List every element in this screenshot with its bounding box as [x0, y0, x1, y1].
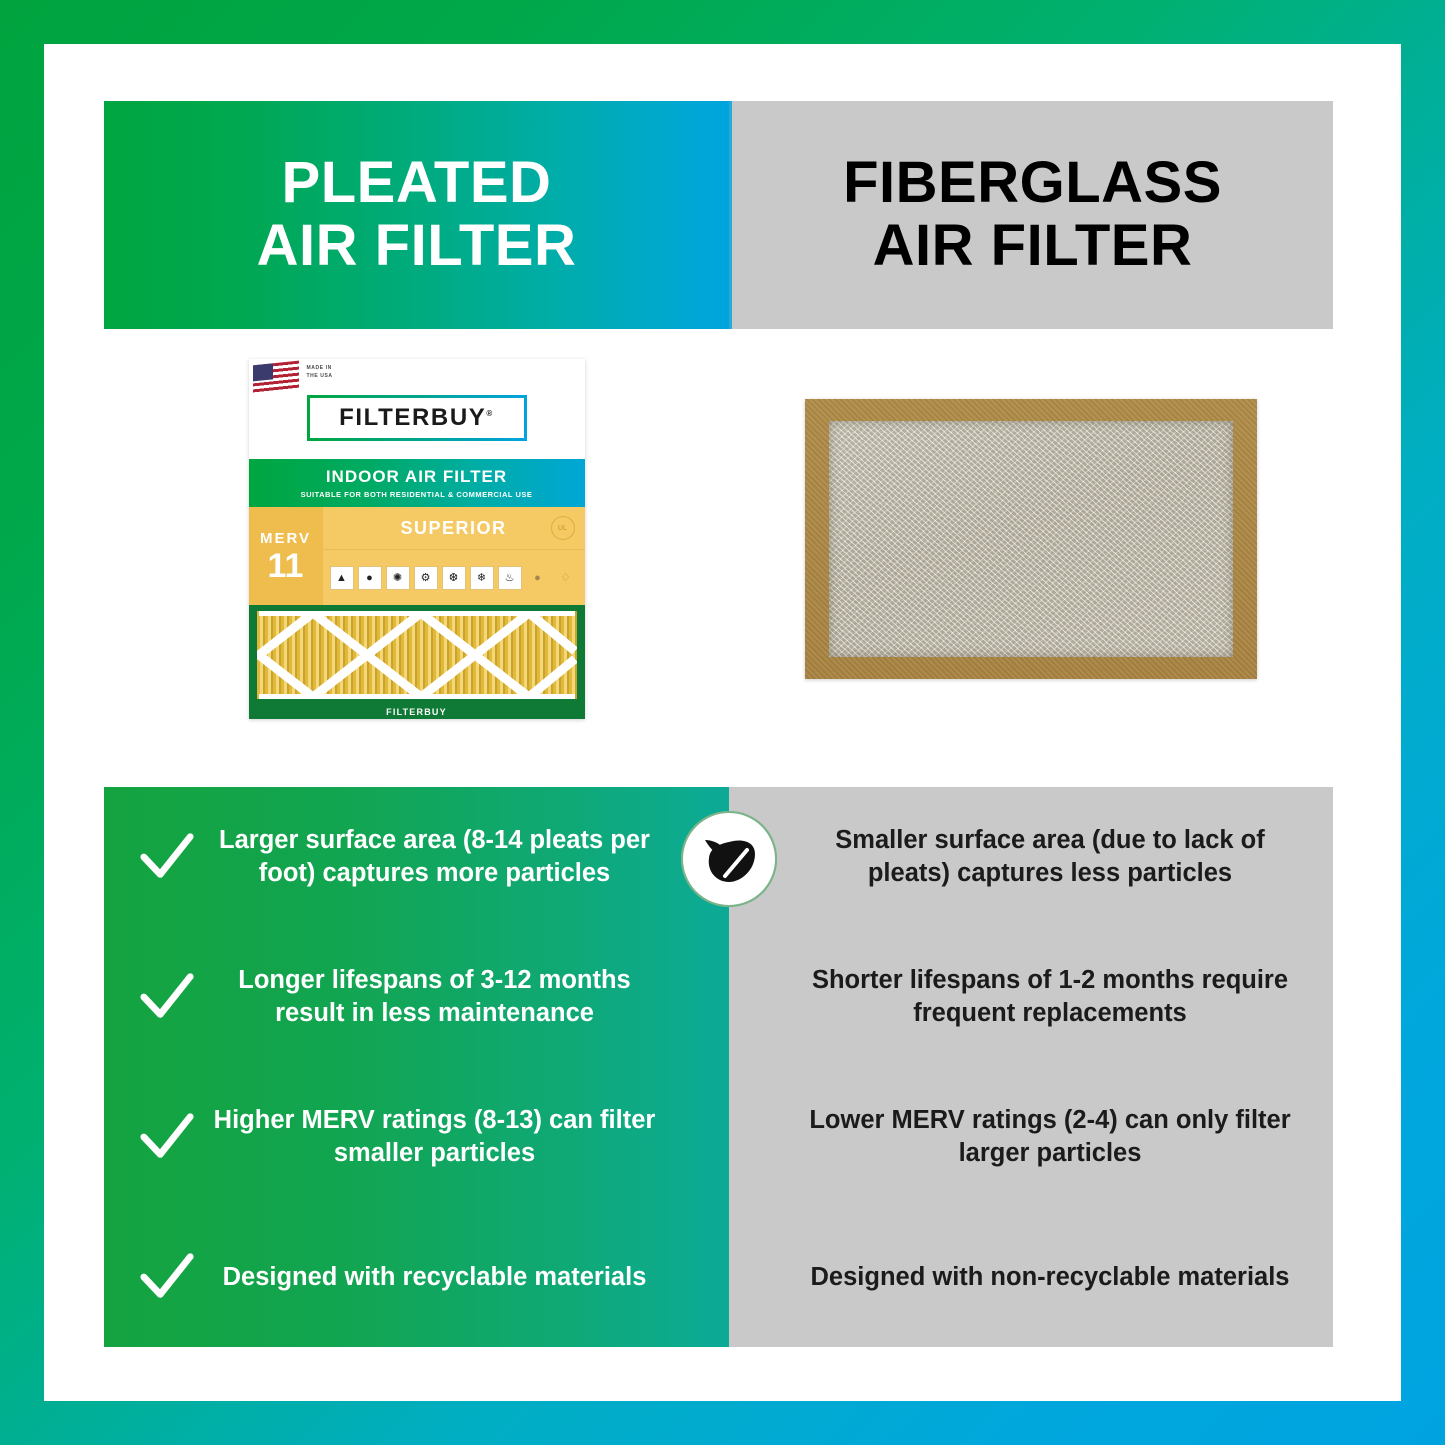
- box-footer-brand: FILTERBUY: [249, 707, 585, 717]
- header-pleated-title: PLEATED AIR FILTER: [257, 152, 577, 277]
- filtration-icons-row: ▲ ● ✺ ⚙ ❆ ❄ ♨ ● ♢: [323, 550, 585, 605]
- voc-icon: ♢: [554, 566, 578, 590]
- comparison-rows-section: Larger surface area (8-14 pleats per foo…: [104, 787, 1333, 1347]
- header-fiberglass-line2: AIR FILTER: [843, 215, 1222, 278]
- header-fiberglass-line1: FIBERGLASS: [843, 152, 1222, 215]
- pleated-filter-box-image: MADE IN THE USA FILTERBUY® INDOOR AIR FI…: [249, 359, 585, 719]
- checkmark-icon: [138, 1248, 196, 1306]
- dust-icon: ▲: [330, 566, 354, 590]
- band-subtitle: SUITABLE FOR BOTH RESIDENTIAL & COMMERCI…: [301, 490, 533, 499]
- comparison-row: Designed with recyclable materials: [104, 1207, 1333, 1347]
- row-left-text: Designed with recyclable materials: [206, 1261, 663, 1294]
- header-fiberglass: FIBERGLASS AIR FILTER: [729, 101, 1333, 329]
- box-merv-section: MERV 11 SUPERIOR UL ▲ ●: [249, 507, 585, 605]
- checkmark-icon: [138, 968, 196, 1026]
- row-right-text: Shorter lifespans of 1-2 months require …: [795, 964, 1305, 1030]
- pleated-product-cell: MADE IN THE USA FILTERBUY® INDOOR AIR FI…: [104, 329, 729, 749]
- row-left-cell: Longer lifespans of 3-12 months result i…: [104, 958, 729, 1036]
- comparison-row: Longer lifespans of 3-12 months result i…: [104, 927, 1333, 1067]
- diamond-grid-svg: [257, 611, 577, 699]
- fiberglass-filter-image: [805, 399, 1257, 679]
- fiberglass-product-cell: [729, 329, 1333, 749]
- odor-icon: ●: [526, 566, 550, 590]
- box-indoor-air-filter-band: INDOOR AIR FILTER SUITABLE FOR BOTH RESI…: [249, 459, 585, 507]
- ul-certification-icon: UL: [551, 516, 575, 540]
- box-top-section: MADE IN THE USA FILTERBUY®: [249, 359, 585, 459]
- leaf-eco-icon: [681, 811, 777, 907]
- merv-label: MERV: [260, 530, 311, 547]
- diamond-support-grid: [257, 611, 577, 699]
- tier-and-icons: SUPERIOR UL ▲ ● ✺ ⚙ ❆ ❄: [323, 507, 585, 605]
- comparison-panel: PLEATED AIR FILTER FIBERGLASS AIR FILTER: [104, 101, 1333, 1347]
- box-pleated-media-view: FILTERBUY: [249, 605, 585, 719]
- header-row: PLEATED AIR FILTER FIBERGLASS AIR FILTER: [104, 101, 1333, 329]
- band-title: INDOOR AIR FILTER: [326, 467, 507, 487]
- product-images-row: MADE IN THE USA FILTERBUY® INDOOR AIR FI…: [104, 329, 1333, 749]
- pet-dander-icon: ❄: [470, 566, 494, 590]
- header-fiberglass-title: FIBERGLASS AIR FILTER: [843, 152, 1222, 277]
- outer-gradient-border: PLEATED AIR FILTER FIBERGLASS AIR FILTER: [0, 0, 1445, 1445]
- row-right-cell: Lower MERV ratings (2-4) can only filter…: [729, 1098, 1333, 1176]
- row-right-text: Smaller surface area (due to lack of ple…: [795, 824, 1305, 890]
- merv-value: 11: [268, 549, 304, 583]
- row-right-text: Lower MERV ratings (2-4) can only filter…: [795, 1104, 1305, 1170]
- checkmark-icon: [138, 828, 196, 886]
- white-canvas: PLEATED AIR FILTER FIBERGLASS AIR FILTER: [44, 44, 1401, 1401]
- header-pleated: PLEATED AIR FILTER: [104, 101, 729, 329]
- brand-logo-text: FILTERBUY®: [339, 404, 494, 432]
- tier-label: SUPERIOR: [400, 518, 506, 539]
- merv-block: MERV 11: [249, 507, 323, 605]
- row-left-text: Higher MERV ratings (8-13) can filter sm…: [206, 1104, 663, 1170]
- bacteria-icon: ⚙: [414, 566, 438, 590]
- mold-icon: ✺: [386, 566, 410, 590]
- header-pleated-line1: PLEATED: [257, 152, 577, 215]
- made-in-usa-label: MADE IN THE USA: [307, 365, 333, 380]
- usa-flag-icon: [253, 361, 299, 396]
- tier-row: SUPERIOR UL: [323, 507, 585, 550]
- checkmark-icon: [138, 1108, 196, 1166]
- mite-icon: ●: [358, 566, 382, 590]
- row-left-text: Longer lifespans of 3-12 months result i…: [206, 964, 663, 1030]
- row-right-cell: Smaller surface area (due to lack of ple…: [729, 818, 1333, 896]
- row-right-cell: Designed with non-recyclable materials: [729, 1255, 1333, 1300]
- row-left-cell: Designed with recyclable materials: [104, 1242, 729, 1312]
- smoke-icon: ♨: [498, 566, 522, 590]
- comparison-rows: Larger surface area (8-14 pleats per foo…: [104, 787, 1333, 1347]
- row-left-cell: Higher MERV ratings (8-13) can filter sm…: [104, 1098, 729, 1176]
- row-right-cell: Shorter lifespans of 1-2 months require …: [729, 958, 1333, 1036]
- row-left-cell: Larger surface area (8-14 pleats per foo…: [104, 818, 729, 896]
- brand-logo-frame: FILTERBUY®: [307, 395, 527, 441]
- row-left-text: Larger surface area (8-14 pleats per foo…: [206, 824, 663, 890]
- fiberglass-mesh-texture: [829, 421, 1233, 657]
- pollen-icon: ❆: [442, 566, 466, 590]
- header-pleated-line2: AIR FILTER: [257, 215, 577, 278]
- comparison-row: Higher MERV ratings (8-13) can filter sm…: [104, 1067, 1333, 1207]
- row-right-text: Designed with non-recyclable materials: [795, 1261, 1305, 1294]
